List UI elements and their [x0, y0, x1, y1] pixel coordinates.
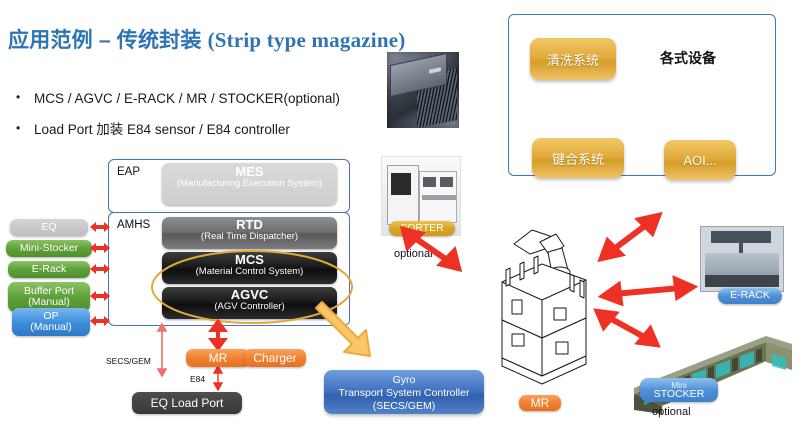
- mini-stocker-tag[interactable]: Mini STOCKER: [640, 378, 718, 402]
- mes-subtitle: (Manufacturing Execution System): [162, 179, 337, 189]
- gyro-line-3: (SECS/GEM): [324, 400, 484, 413]
- left-column-connectors: [88, 214, 112, 336]
- bullet-item-1: •MCS / AGVC / E-RACK / MR / STOCKER(opti…: [16, 90, 340, 106]
- left-item-eq[interactable]: EQ: [10, 219, 88, 236]
- mr-agvc-arrow: [212, 322, 224, 348]
- equipment-box-label: AOI...: [683, 153, 716, 168]
- charger-node-label: Charger: [253, 351, 296, 365]
- mr-node[interactable]: MR: [186, 349, 250, 367]
- equipment-box-label: 清洗系统: [547, 50, 599, 69]
- left-item-op[interactable]: OP (Manual): [12, 308, 90, 336]
- agvc-to-gyro-arrow: [318, 298, 408, 374]
- charger-node[interactable]: Charger: [244, 349, 306, 367]
- erack-gantry: [711, 231, 771, 243]
- sorter-screen: [391, 173, 411, 195]
- page-title-en: (Strip type magazine): [208, 28, 406, 52]
- sorter-port-1: [423, 177, 436, 187]
- rtd-subtitle: (Real Time Dispatcher): [162, 232, 337, 242]
- bullet-item-2: •Load Port 加装 E84 sensor / E84 controlle…: [16, 118, 290, 138]
- rtd-title: RTD: [162, 218, 337, 232]
- mes-box[interactable]: MES (Manufacturing Execution System): [162, 163, 337, 205]
- mr-machine-tag[interactable]: MR: [519, 395, 561, 411]
- erack-photo: [700, 226, 784, 292]
- bullet-text: Load Port 加装 E84 sensor / E84 controller: [34, 122, 290, 137]
- equipment-box-bonding[interactable]: 键合系统: [532, 138, 624, 178]
- arrow-mr-to-erack-lower: [600, 276, 696, 308]
- arrow-mr-to-erack-upper: [598, 204, 678, 266]
- left-item-e-rack[interactable]: E-Rack: [8, 261, 90, 278]
- rtd-box[interactable]: RTD (Real Time Dispatcher): [162, 217, 337, 249]
- left-item-label: EQ: [41, 222, 56, 233]
- mes-title: MES: [162, 165, 337, 179]
- eq-load-port-label: EQ Load Port: [151, 396, 224, 410]
- e84-arrow: [214, 366, 222, 390]
- mini-stocker-tag-line1: Mini: [671, 381, 687, 390]
- erack-tag-label: E-RACK: [730, 290, 770, 301]
- erack-body: [705, 253, 779, 275]
- bullet-text: MCS / AGVC / E-RACK / MR / STOCKER(optio…: [34, 91, 340, 106]
- eap-label: EAP: [117, 166, 140, 178]
- equipment-box-aoi[interactable]: AOI...: [664, 140, 736, 180]
- secs-gem-arrow: [158, 324, 166, 376]
- left-item-mini-stocker[interactable]: Mini-Stocker: [6, 240, 92, 257]
- sorter-port-2: [440, 177, 453, 187]
- connector-arrow: [90, 243, 110, 253]
- e84-label: E84: [190, 374, 205, 384]
- equipment-box-label: 键合系统: [552, 149, 604, 168]
- equipment-panel-heading: 各式设备: [660, 48, 716, 68]
- mr-machine-tag-label: MR: [531, 396, 550, 410]
- strip-magazine-photo: [387, 52, 459, 128]
- left-item-label: OP (Manual): [30, 311, 71, 333]
- left-item-label: E-Rack: [32, 264, 66, 275]
- page-title: 应用范例 – 传统封装 (Strip type magazine): [8, 24, 405, 54]
- erack-tag[interactable]: E-RACK: [718, 288, 782, 304]
- left-item-label: Mini-Stocker: [20, 243, 78, 254]
- mr-node-label: MR: [209, 351, 228, 365]
- connector-arrow: [90, 291, 110, 301]
- connector-arrow: [90, 222, 110, 232]
- amhs-label: AMHS: [117, 219, 150, 231]
- bullet-marker: •: [16, 90, 34, 104]
- arrow-sorter-to-mr: [398, 226, 478, 276]
- page-title-cn: 应用范例 – 传统封装: [8, 29, 208, 52]
- equipment-box-cleaning[interactable]: 清洗系统: [530, 38, 616, 80]
- mini-stocker-caption: optional: [652, 406, 691, 418]
- gyro-line-2: Transport System Controller: [324, 387, 484, 400]
- eq-load-port-node[interactable]: EQ Load Port: [132, 392, 242, 414]
- erack-base: [705, 275, 779, 287]
- gyro-line-1: Gyro: [324, 374, 484, 387]
- sorter-arm: [422, 195, 456, 200]
- gyro-controller-box[interactable]: Gyro Transport System Controller (SECS/G…: [324, 370, 484, 414]
- connector-arrow: [90, 316, 110, 326]
- mr-machine-drawing: [476, 222, 606, 392]
- left-item-label: Buffer Port (Manual): [24, 286, 74, 308]
- bullet-marker: •: [16, 121, 34, 135]
- connector-arrow: [90, 264, 110, 274]
- mini-stocker-photo: [616, 336, 792, 414]
- mini-stocker-tag-line2: STOCKER: [654, 389, 705, 400]
- secs-gem-label: SECS/GEM: [106, 356, 151, 366]
